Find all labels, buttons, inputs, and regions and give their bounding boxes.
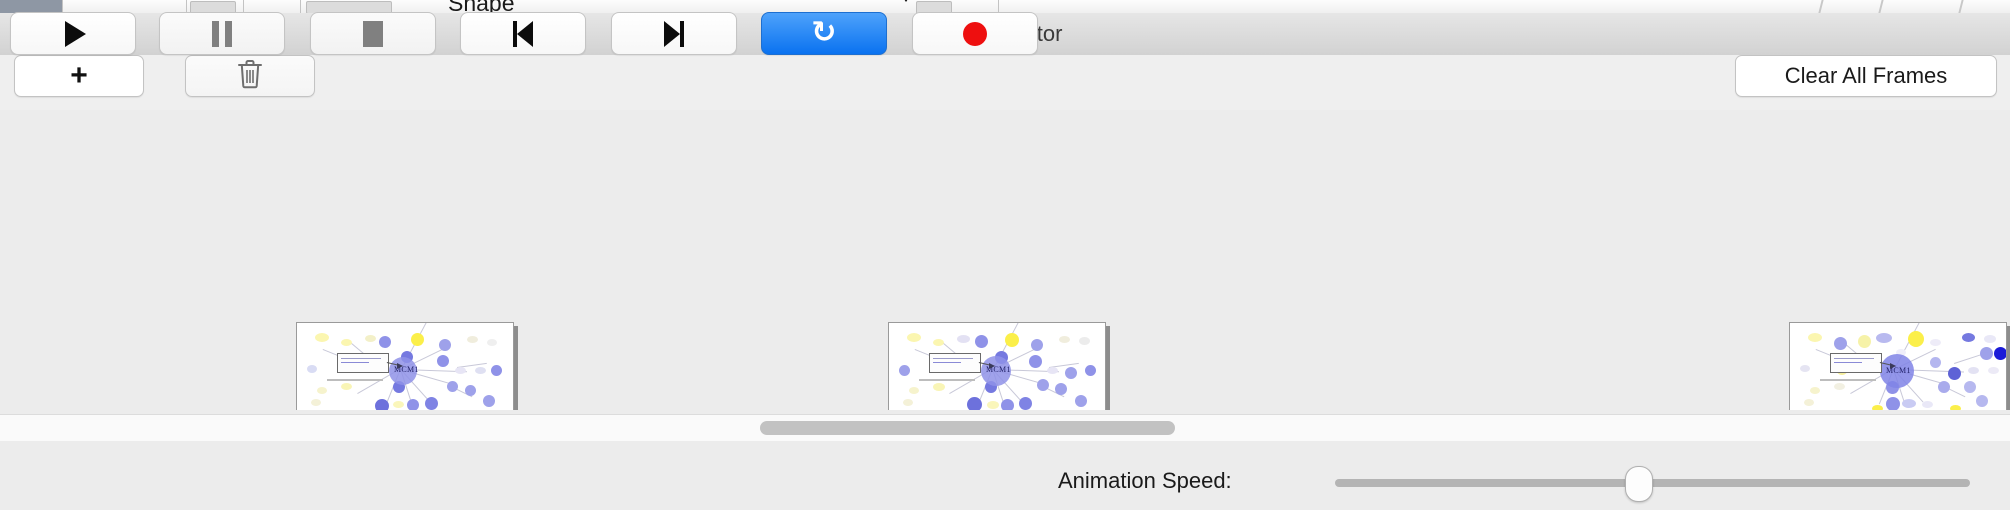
loop-icon: ↻	[811, 18, 836, 48]
bg-caret-icon	[900, 0, 912, 2]
loop-button[interactable]: ↻	[761, 12, 887, 55]
bg-divider	[300, 0, 301, 13]
frame-thumbnail-network: MCM1	[889, 323, 1105, 410]
timeline-frame[interactable]: MCM1	[296, 322, 514, 410]
pause-button[interactable]	[159, 12, 285, 55]
delete-frame-button[interactable]	[185, 55, 315, 97]
playback-control-bar	[0, 441, 2010, 510]
stop-button[interactable]	[310, 12, 436, 55]
frame-thumbnail-network: MCM1	[297, 323, 513, 410]
record-icon	[963, 22, 987, 46]
clear-all-frames-label: Clear All Frames	[1785, 63, 1948, 89]
play-icon	[65, 21, 86, 47]
bg-slash	[1958, 0, 1977, 13]
skip-back-icon	[513, 21, 533, 47]
skip-forward-button[interactable]	[611, 12, 737, 55]
clear-all-frames-button[interactable]: Clear All Frames	[1735, 55, 1997, 97]
timeline-frame[interactable]: MCM1	[888, 322, 1106, 410]
animation-speed-slider-thumb[interactable]	[1625, 466, 1653, 502]
skip-back-button[interactable]	[460, 12, 586, 55]
pause-icon	[212, 21, 232, 47]
trash-icon	[237, 59, 263, 94]
add-frame-button[interactable]: +	[14, 55, 144, 97]
record-button[interactable]	[912, 12, 1038, 55]
scrollbar-row	[0, 414, 2010, 442]
frame-thumbnail-network: MCM1	[1790, 323, 2006, 410]
skip-forward-icon	[664, 21, 684, 47]
bg-slash	[1878, 0, 1897, 13]
plus-icon: +	[70, 61, 88, 91]
scrollbar-thumb[interactable]	[760, 421, 1175, 435]
cyanimator-window: Shape CyAnimator + Clear All Frames	[0, 0, 2010, 510]
bg-slash	[1818, 0, 1837, 13]
stop-icon	[363, 21, 383, 47]
timeline-frame[interactable]: MCM1	[1789, 322, 2007, 410]
play-button[interactable]	[10, 12, 136, 55]
animation-speed-label: Animation Speed:	[1058, 468, 1232, 494]
timeline-panel[interactable]: MCM1	[0, 110, 2010, 410]
